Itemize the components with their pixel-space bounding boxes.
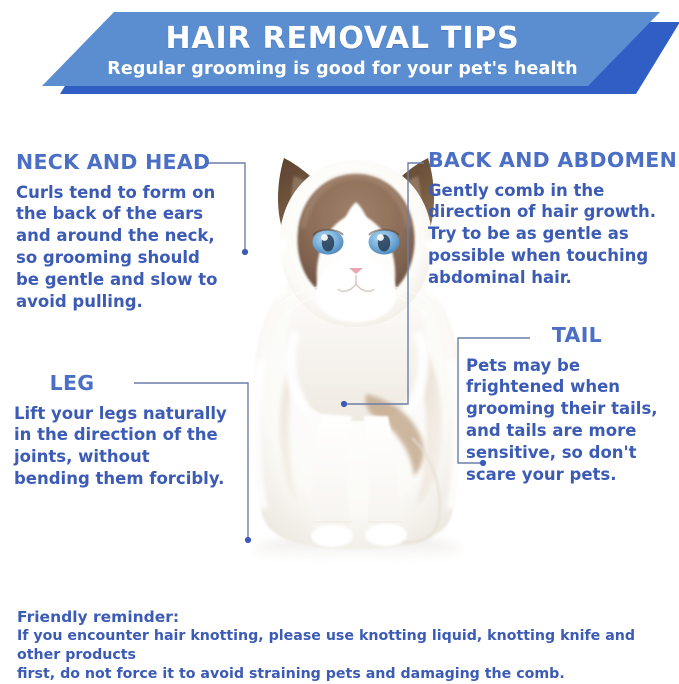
page-subtitle: Regular grooming is good for your pet's … bbox=[107, 59, 578, 79]
callout-tail-heading: TAIL bbox=[466, 325, 602, 346]
callout-leg-heading: LEG bbox=[14, 373, 130, 394]
callout-leg: LEG Lift your legs naturally in the dire… bbox=[14, 373, 230, 490]
callout-tail-body: Pets may be frightened when grooming the… bbox=[466, 355, 674, 487]
footer-reminder: Friendly reminder: If you encounter hair… bbox=[17, 608, 667, 684]
page-title: HAIR REMOVAL TIPS bbox=[166, 23, 520, 55]
callout-back-and-abdomen-heading: BACK AND ABDOMEN bbox=[428, 150, 674, 171]
reminder-title: Friendly reminder: bbox=[17, 608, 667, 627]
reminder-line-2: first, do not force it to avoid strainin… bbox=[17, 665, 667, 684]
reminder-line-1: If you encounter hair knotting, please u… bbox=[17, 627, 667, 664]
callout-tail: TAIL Pets may be frightened when groomin… bbox=[466, 325, 674, 486]
callout-neck-and-head-body: Curls tend to form on the back of the ea… bbox=[16, 182, 228, 314]
callout-back-and-abdomen: BACK AND ABDOMEN Gently comb in the dire… bbox=[428, 150, 674, 289]
callout-leg-body: Lift your legs naturally in the directio… bbox=[14, 403, 230, 491]
callout-neck-and-head-heading: NECK AND HEAD bbox=[16, 152, 228, 173]
banner-text-group: HAIR REMOVAL TIPS Regular grooming is go… bbox=[0, 12, 679, 90]
header-banner: HAIR REMOVAL TIPS Regular grooming is go… bbox=[0, 0, 679, 108]
callout-neck-and-head: NECK AND HEAD Curls tend to form on the … bbox=[16, 152, 228, 313]
callout-back-and-abdomen-body: Gently comb in the direction of hair gro… bbox=[428, 180, 674, 290]
